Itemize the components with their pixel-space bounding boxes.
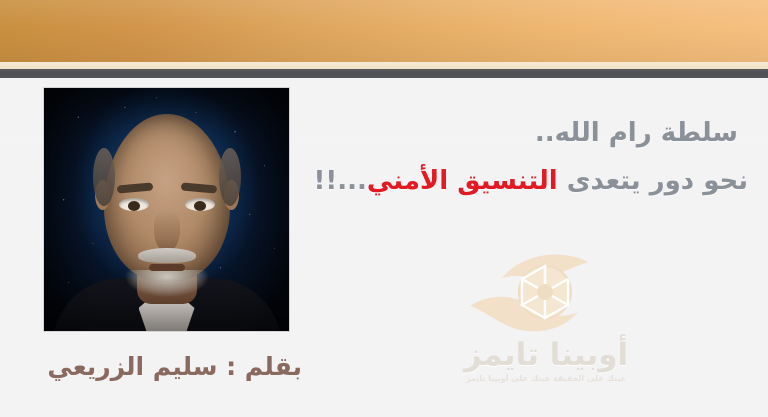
- banner-cream-line: [0, 62, 768, 69]
- logo-wordmark: أوبينا تايمز: [448, 340, 644, 371]
- headline-block: سلطة رام الله.. نحو دور يتعدى التنسيق ال…: [156, 120, 756, 194]
- aperture-eye-icon: [448, 252, 644, 344]
- headline-line-2: نحو دور يتعدى التنسيق الأمني...!!: [156, 168, 748, 194]
- banner-dark-bar: [0, 69, 768, 78]
- logo-tagline: عينك على الحقيقة عينك على أوبينا تايمز: [448, 374, 644, 383]
- article-header-graphic: سلطة رام الله.. نحو دور يتعدى التنسيق ال…: [0, 0, 768, 417]
- site-watermark-logo: أوبينا تايمز عينك على الحقيقة عينك على أ…: [448, 252, 644, 390]
- top-banner: [0, 0, 768, 62]
- headline-line-2-suffix: ...!!: [314, 166, 367, 196]
- banner-sheen: [0, 0, 768, 62]
- headline-line-1: سلطة رام الله..: [156, 120, 738, 146]
- headline-line-2-prefix: نحو دور يتعدى: [567, 166, 748, 196]
- headline-line-2-emphasis: التنسيق الأمني: [367, 166, 558, 196]
- byline: بقلم : سليم الزريعي: [47, 352, 302, 381]
